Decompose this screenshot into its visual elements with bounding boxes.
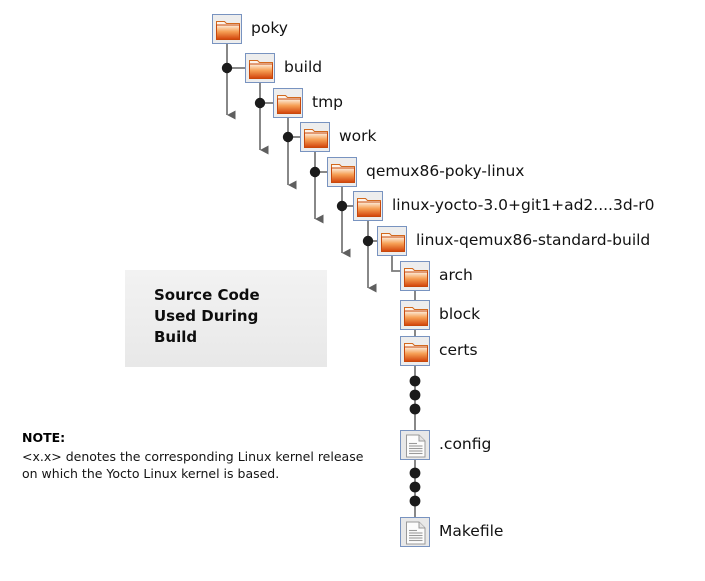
tree-node-tmp[interactable]: tmp xyxy=(273,88,343,118)
source-code-callout-box: Source Code Used During Build xyxy=(125,270,327,367)
file-icon xyxy=(400,430,430,460)
folder-icon xyxy=(400,336,430,366)
note-body: <x.x> denotes the corresponding Linux ke… xyxy=(22,448,382,482)
directory-tree-diagram: Source Code Used During Build NOTE: <x.x… xyxy=(0,0,705,581)
folder-icon xyxy=(245,53,275,83)
tree-node-certs[interactable]: certs xyxy=(400,336,478,366)
tree-node-label: arch xyxy=(439,268,473,284)
file-icon xyxy=(400,517,430,547)
tree-node-label: work xyxy=(339,129,377,145)
tree-node-label: certs xyxy=(439,343,478,359)
tree-node-makefile[interactable]: Makefile xyxy=(400,517,503,547)
note-heading: NOTE: xyxy=(22,430,382,446)
tree-node-build[interactable]: build xyxy=(245,53,322,83)
tree-node-label: build xyxy=(284,60,322,76)
connector-lines xyxy=(0,0,705,581)
folder-icon xyxy=(377,226,407,256)
note-block: NOTE: <x.x> denotes the corresponding Li… xyxy=(22,430,382,482)
tree-node-label: .config xyxy=(439,437,491,453)
tree-node-label: tmp xyxy=(312,95,343,111)
folder-icon xyxy=(400,261,430,291)
tree-node-label: poky xyxy=(251,21,288,37)
tree-node-label: linux-yocto-3.0+git1+ad2....3d-r0 xyxy=(392,198,655,214)
folder-icon xyxy=(400,300,430,330)
source-code-callout-label: Source Code Used During Build xyxy=(154,285,260,348)
folder-icon xyxy=(273,88,303,118)
tree-node-linux-yocto[interactable]: linux-yocto-3.0+git1+ad2....3d-r0 xyxy=(353,191,655,221)
tree-node-block[interactable]: block xyxy=(400,300,480,330)
tree-node-work[interactable]: work xyxy=(300,122,377,152)
tree-node-label: Makefile xyxy=(439,524,503,540)
tree-node-label: qemux86-poky-linux xyxy=(366,164,524,180)
tree-node-poky[interactable]: poky xyxy=(212,14,288,44)
tree-node-qemux86-poky-linux[interactable]: qemux86-poky-linux xyxy=(327,157,524,187)
folder-icon xyxy=(212,14,242,44)
folder-icon xyxy=(353,191,383,221)
tree-node-label: block xyxy=(439,307,480,323)
folder-icon xyxy=(327,157,357,187)
folder-icon xyxy=(300,122,330,152)
tree-node-config-file[interactable]: .config xyxy=(400,430,491,460)
tree-node-arch[interactable]: arch xyxy=(400,261,473,291)
tree-node-linux-qemux86-standard-build[interactable]: linux-qemux86-standard-build xyxy=(377,226,650,256)
tree-node-label: linux-qemux86-standard-build xyxy=(416,233,650,249)
